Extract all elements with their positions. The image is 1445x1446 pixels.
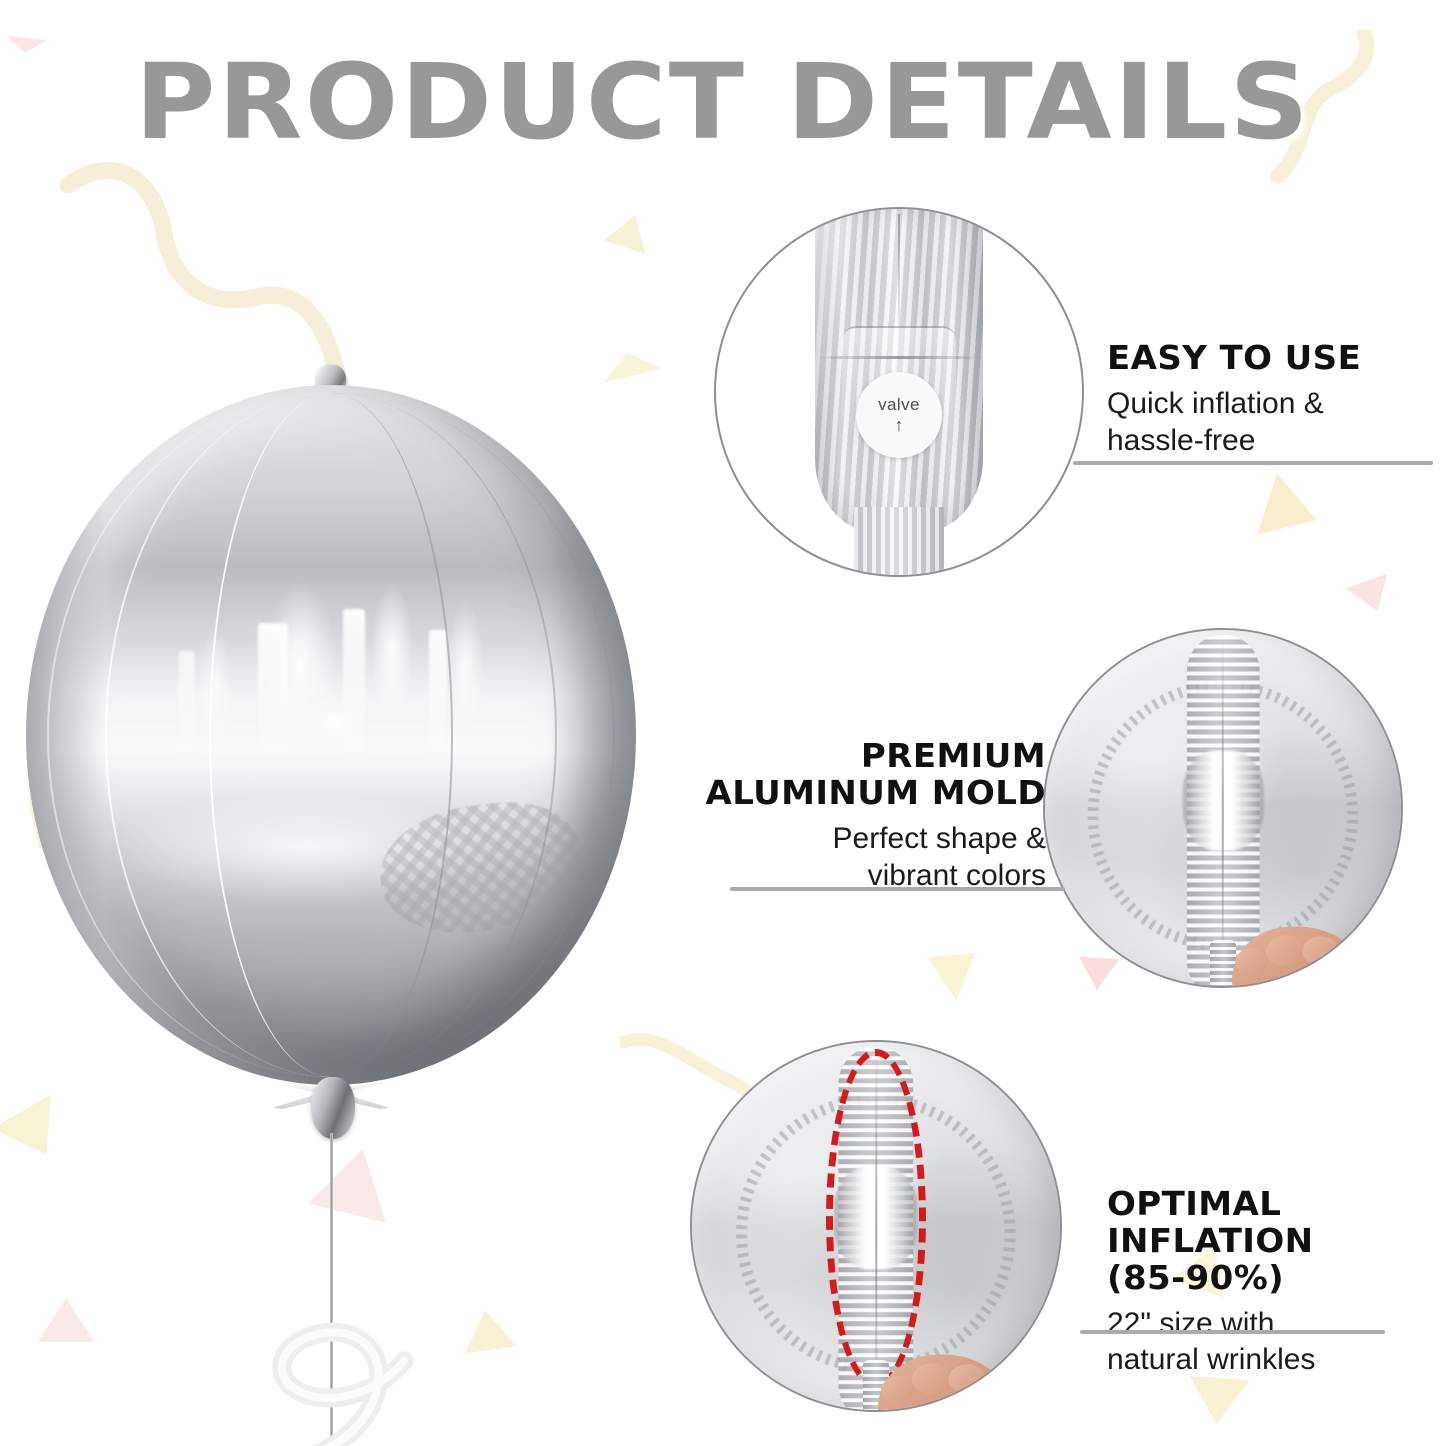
feature-heading-line-1: PREMIUM	[696, 738, 1046, 775]
confetti-triangle-pink-3	[1346, 573, 1398, 618]
divider-aluminum-mold	[730, 887, 1065, 891]
feature-heading-line-2: (85-90%)	[1107, 1260, 1445, 1297]
feature-easy-to-use: EASY TO USE Quick inflation & hassle-fre…	[1107, 340, 1437, 459]
balloon-string	[330, 1133, 333, 1446]
feature-body-easy-to-use: Quick inflation & hassle-free	[1107, 386, 1437, 459]
confetti-triangle-cream-4	[928, 953, 981, 1004]
finger-2	[1264, 933, 1306, 968]
inflated-balloon-photo-1	[1043, 628, 1403, 988]
feature-body-line-1: Quick inflation &	[1107, 386, 1437, 423]
balloon-center-seam-1	[1222, 631, 1224, 988]
feature-body-line-2: natural wrinkles	[1107, 1342, 1445, 1379]
confetti-triangle-pink-5	[38, 1298, 94, 1342]
feature-body-optimal-inflation: 22" size with natural wrinkles	[1107, 1306, 1445, 1379]
wrinkle-highlight-ellipse	[826, 1049, 925, 1388]
finger-3	[1301, 934, 1341, 967]
feature-body-line-1: 22" size with	[1107, 1306, 1445, 1343]
confetti-triangle-cream-8	[1186, 1376, 1249, 1426]
feature-body-line-2: hassle-free	[1107, 423, 1437, 460]
inset-circle-optimal-inflation	[690, 1040, 1062, 1412]
deflated-balloon-neck	[854, 507, 944, 577]
feature-heading-optimal-inflation: OPTIMAL INFLATION (85-90%)	[1107, 1186, 1445, 1297]
confetti-triangle-cream-1	[604, 208, 656, 254]
divider-easy-to-use	[1073, 461, 1433, 465]
inset-circle-valve: valve ↑	[714, 207, 1084, 577]
feature-heading-line-1: OPTIMAL INFLATION	[1107, 1186, 1445, 1260]
confetti-triangle-cream-2	[598, 345, 662, 383]
valve-arrow-icon: ↑	[895, 416, 904, 434]
balloon-bottom-seal	[311, 1077, 355, 1139]
balloon-sphere	[26, 385, 636, 1085]
feature-body-line-1: Perfect shape &	[706, 821, 1046, 858]
confetti-triangle-cream-3	[1257, 474, 1326, 551]
feature-heading-line-2: ALUMINUM MOLD	[696, 775, 1046, 812]
valve-label: valve	[878, 396, 920, 413]
confetti-triangle-cream-7	[459, 1307, 516, 1354]
balloon-seam-inner	[209, 393, 453, 1076]
confetti-triangle-pink-4	[308, 1139, 402, 1222]
deflated-balloon-photo	[815, 207, 983, 531]
page-title: PRODUCT DETAILS	[134, 48, 1310, 157]
inset-circle-aluminum-mold	[1043, 628, 1403, 988]
feature-optimal-inflation: OPTIMAL INFLATION (85-90%) 22" size with…	[1107, 1186, 1445, 1379]
confetti-triangle-cream-6	[0, 1094, 76, 1171]
feature-heading-aluminum-mold: PREMIUM ALUMINUM MOLD	[696, 738, 1046, 812]
finger-2	[910, 1361, 952, 1396]
finger-3	[946, 1362, 986, 1395]
valve-sticker: valve ↑	[856, 372, 942, 458]
page-title-wrap: PRODUCT DETAILS	[0, 48, 1445, 157]
feature-body-aluminum-mold: Perfect shape & vibrant colors	[706, 821, 1046, 894]
feature-aluminum-mold: PREMIUM ALUMINUM MOLD Perfect shape & vi…	[706, 738, 1046, 894]
feature-heading-easy-to-use: EASY TO USE	[1107, 340, 1445, 377]
divider-optimal-inflation	[1080, 1330, 1385, 1334]
hero-balloon	[26, 385, 636, 1085]
infographic-canvas: PRODUCT DETAILS	[0, 0, 1445, 1446]
